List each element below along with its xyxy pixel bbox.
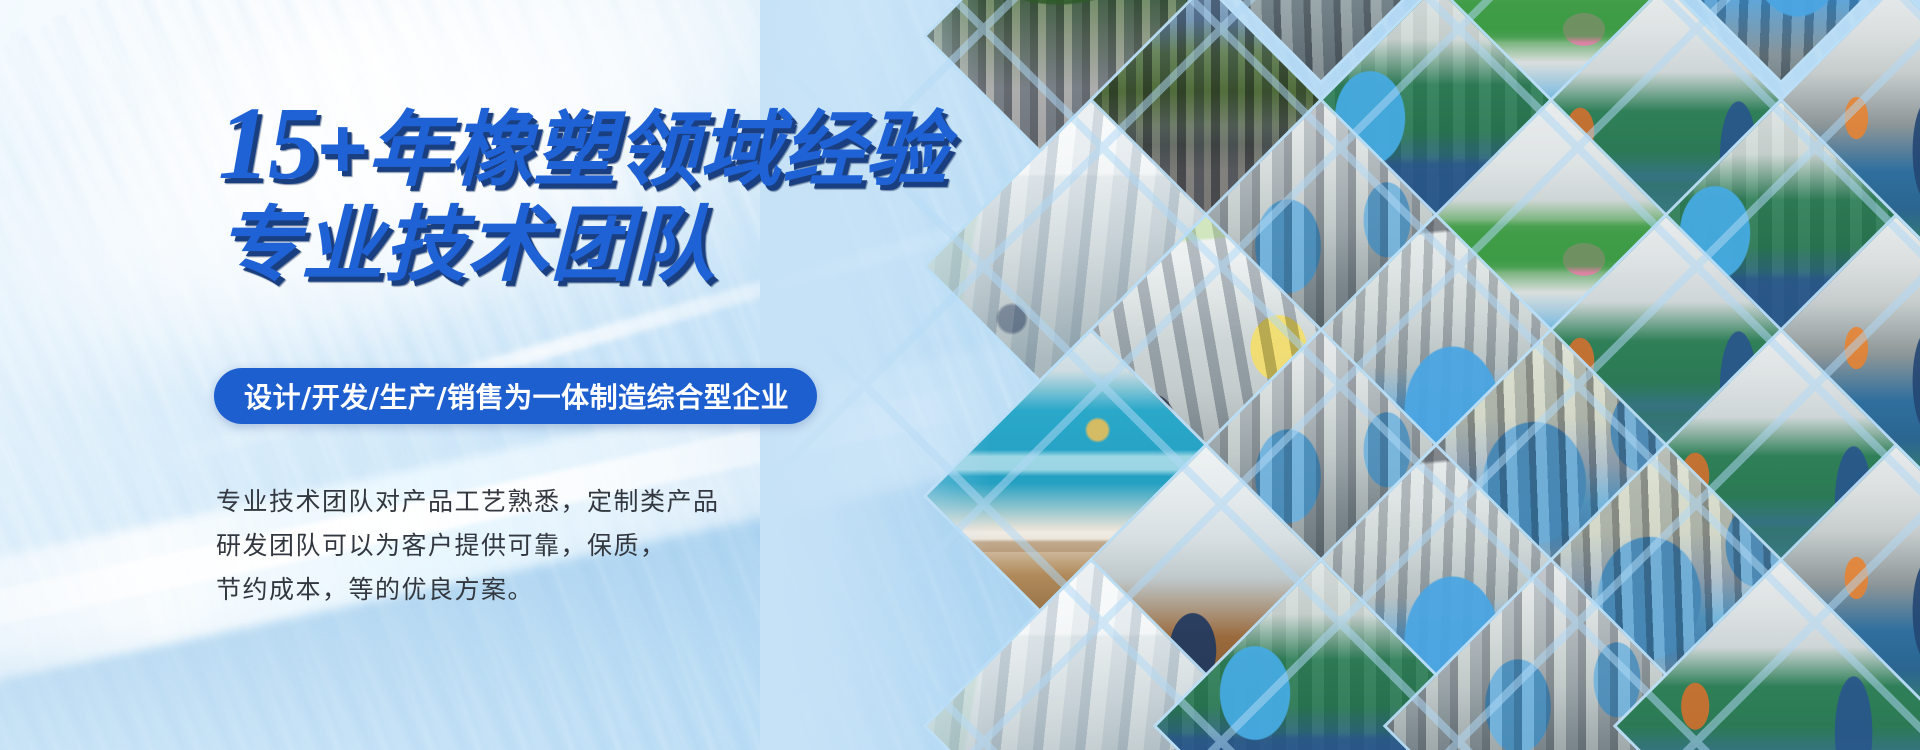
headline-line-1-text: 年橡塑领域经验	[367, 103, 948, 198]
description-line-3: 节约成本，等的优良方案。	[216, 568, 720, 612]
headline-line-1: 15+年橡塑领域经验	[218, 92, 948, 196]
slogan-pill-label: 设计/开发/生产/销售为一体制造综合型企业	[244, 376, 789, 416]
slogan-pill[interactable]: 设计/开发/生产/销售为一体制造综合型企业	[214, 368, 817, 424]
headline-plus: +	[316, 101, 365, 197]
headline-number: 15	[218, 86, 318, 201]
description-paragraph: 专业技术团队对产品工艺熟悉，定制类产品 研发团队可以为客户提供可靠，保质， 节约…	[216, 480, 720, 612]
description-line-1: 专业技术团队对产品工艺熟悉，定制类产品	[216, 480, 720, 524]
copy-block: 15+年橡塑领域经验 专业技术团队 设计/开发/生产/销售为一体制造综合型企业 …	[0, 0, 900, 750]
headline-line-2-text: 专业技术团队	[218, 198, 716, 293]
description-line-2: 研发团队可以为客户提供可靠，保质，	[216, 524, 720, 568]
headline-line-2: 专业技术团队	[218, 196, 716, 288]
promo-banner: 15+年橡塑领域经验 专业技术团队 设计/开发/生产/销售为一体制造综合型企业 …	[0, 0, 1920, 750]
